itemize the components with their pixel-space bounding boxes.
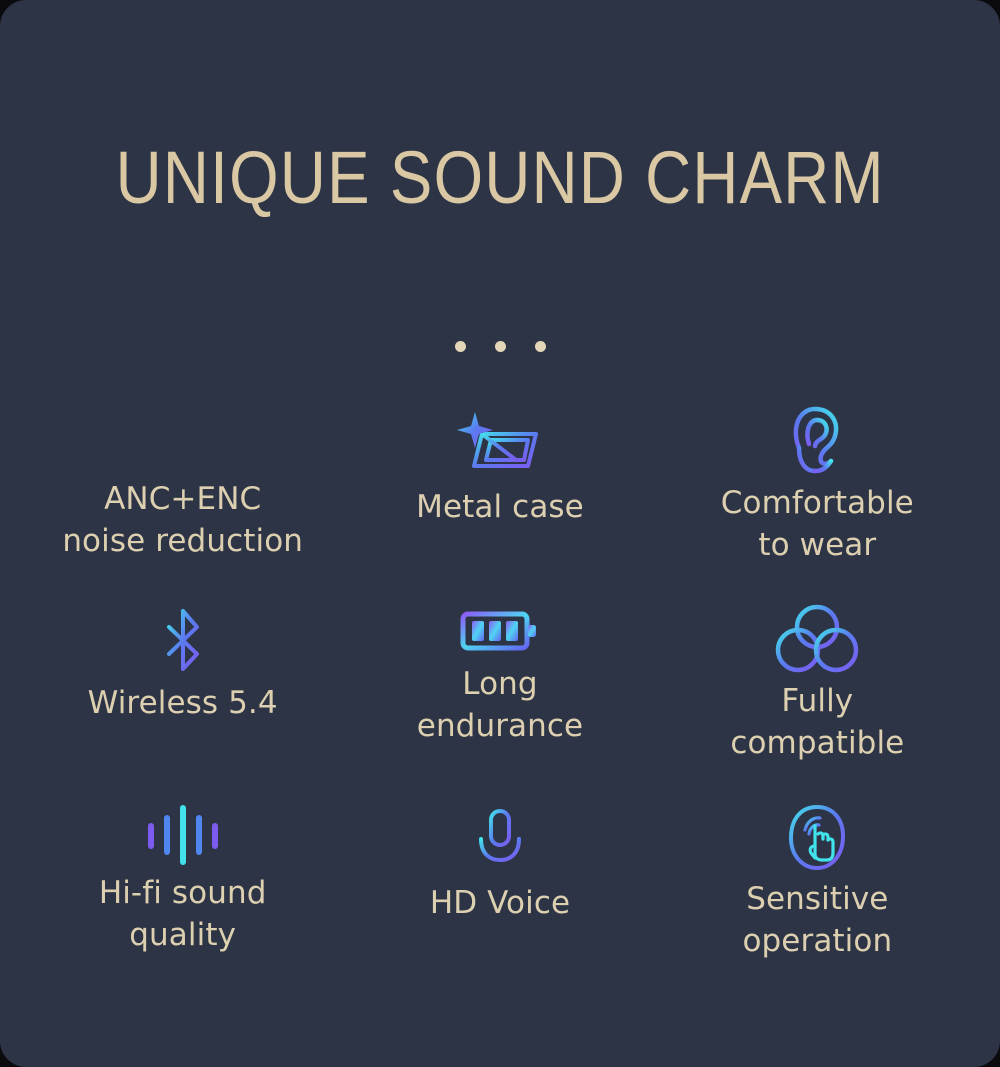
sound-wave-icon bbox=[143, 404, 223, 472]
feature-label: Metal case bbox=[416, 486, 584, 528]
feature-item-hifi: Hi-fi sound quality bbox=[24, 804, 341, 947]
ear-icon bbox=[787, 404, 847, 476]
feature-item-compatible: Fully compatible bbox=[659, 604, 976, 747]
feature-item-hd-voice: HD Voice bbox=[341, 804, 658, 947]
product-feature-poster: UNIQUE SOUND CHARM bbox=[0, 0, 1000, 1067]
feature-label: Comfortable to wear bbox=[721, 482, 914, 566]
feature-grid: ANC+ENC noise reduction Metal case bbox=[24, 404, 976, 947]
feature-label: Wireless 5.4 bbox=[88, 682, 278, 724]
feature-item-anc-enc: ANC+ENC noise reduction bbox=[24, 404, 341, 547]
page-title: UNIQUE SOUND CHARM bbox=[0, 136, 1000, 220]
feature-label: Hi-fi sound quality bbox=[99, 872, 267, 956]
feature-item-sensitive: Sensitive operation bbox=[659, 804, 976, 947]
feature-label: Sensitive operation bbox=[742, 878, 892, 962]
feature-item-endurance: Long endurance bbox=[341, 604, 658, 747]
touch-hand-icon bbox=[785, 804, 849, 872]
separator-dot bbox=[495, 341, 506, 352]
bluetooth-icon bbox=[159, 604, 207, 676]
feature-label: Long endurance bbox=[417, 663, 583, 747]
page-title-text: UNIQUE SOUND CHARM bbox=[115, 136, 884, 220]
microphone-icon bbox=[472, 804, 528, 876]
feature-item-metal-case: Metal case bbox=[341, 404, 658, 547]
feature-label: HD Voice bbox=[430, 882, 570, 924]
overlapping-circles-icon bbox=[774, 604, 860, 674]
feature-item-comfortable: Comfortable to wear bbox=[659, 404, 976, 547]
feature-label: Fully compatible bbox=[730, 680, 904, 764]
metal-case-icon bbox=[452, 404, 548, 480]
dots-separator bbox=[0, 341, 1000, 352]
battery-icon bbox=[460, 604, 540, 657]
feature-label: ANC+ENC noise reduction bbox=[62, 478, 303, 562]
separator-dot bbox=[535, 341, 546, 352]
feature-item-wireless: Wireless 5.4 bbox=[24, 604, 341, 747]
separator-dot bbox=[455, 341, 466, 352]
equalizer-icon bbox=[143, 804, 223, 866]
